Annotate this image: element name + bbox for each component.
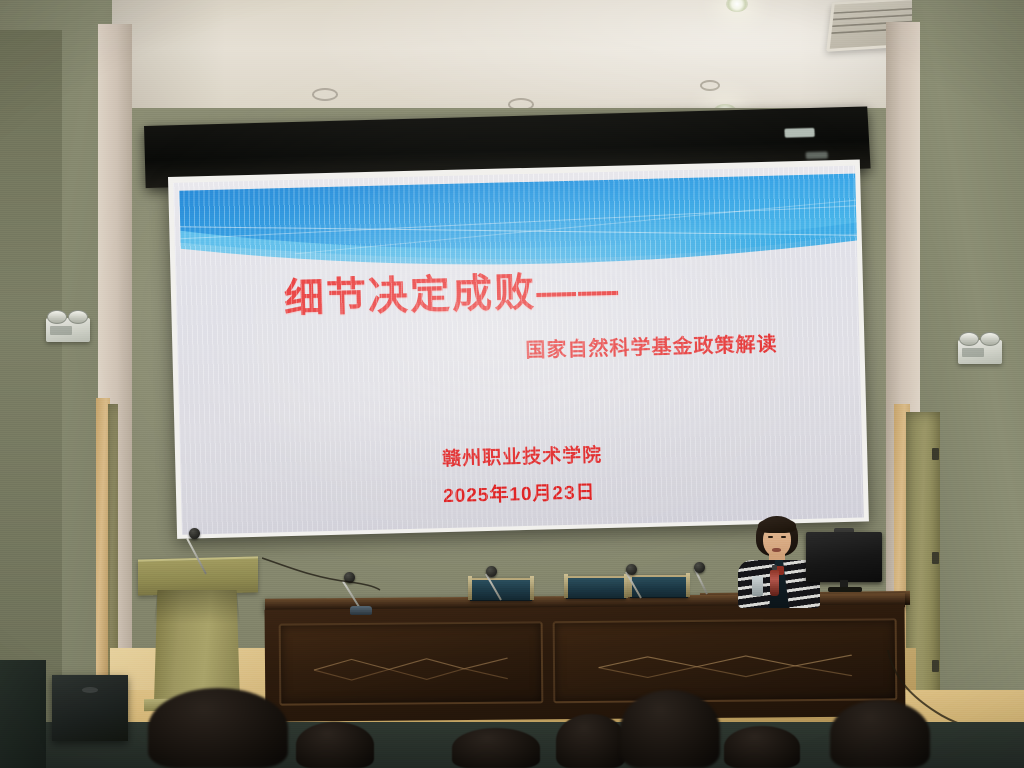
presenter-eye — [768, 536, 773, 538]
emergency-light-icon — [958, 340, 1002, 364]
monitor-foot — [828, 587, 862, 592]
emergency-light-icon — [46, 318, 90, 342]
presenter-mouth — [772, 548, 781, 552]
projected-slide: 细节决定成败—— 国家自然科学基金政策解读 赣州职业技术学院 2025年10月2… — [173, 166, 864, 535]
conference-table-front — [265, 604, 906, 722]
recessed-downlight-icon — [700, 80, 720, 91]
cable — [262, 556, 382, 602]
table-panel — [279, 621, 544, 705]
valance-highlight — [784, 128, 814, 138]
valance-highlight — [806, 152, 828, 160]
audience-head — [724, 726, 800, 768]
drinking-cup — [752, 576, 763, 596]
audience-head — [148, 688, 288, 768]
audience-head — [620, 690, 720, 768]
desktop-monitor — [806, 528, 882, 590]
table-panel — [553, 618, 898, 703]
floor-loudspeaker — [52, 675, 128, 741]
audience-head — [296, 722, 374, 768]
left-wall-return — [0, 30, 62, 768]
slide-subtitle: 国家自然科学基金政策解读 — [525, 328, 778, 363]
audience-head — [452, 728, 540, 768]
recessed-downlight-icon — [312, 88, 338, 101]
slide-date: 2025年10月23日 — [443, 477, 596, 508]
audience-head — [830, 700, 930, 768]
name-plate — [566, 576, 626, 599]
lectern — [138, 558, 258, 708]
lectern-shading — [154, 590, 240, 624]
presenter-hair-front — [758, 518, 796, 533]
loudspeaker-marking — [82, 687, 98, 693]
projection-screen: 细节决定成败—— 国家自然科学基金政策解读 赣州职业技术学院 2025年10月2… — [168, 159, 869, 538]
monitor-rear-panel — [806, 532, 882, 582]
slide-title: 细节决定成败—— — [283, 254, 754, 324]
audience-head — [556, 714, 626, 768]
side-loudspeaker — [0, 660, 46, 768]
slide-organization: 赣州职业技术学院 — [442, 440, 603, 471]
presenter-eye — [781, 536, 786, 538]
lecture-hall-photo: 细节决定成败—— 国家自然科学基金政策解读 赣州职业技术学院 2025年10月2… — [0, 0, 1024, 768]
water-bottle — [770, 570, 779, 596]
